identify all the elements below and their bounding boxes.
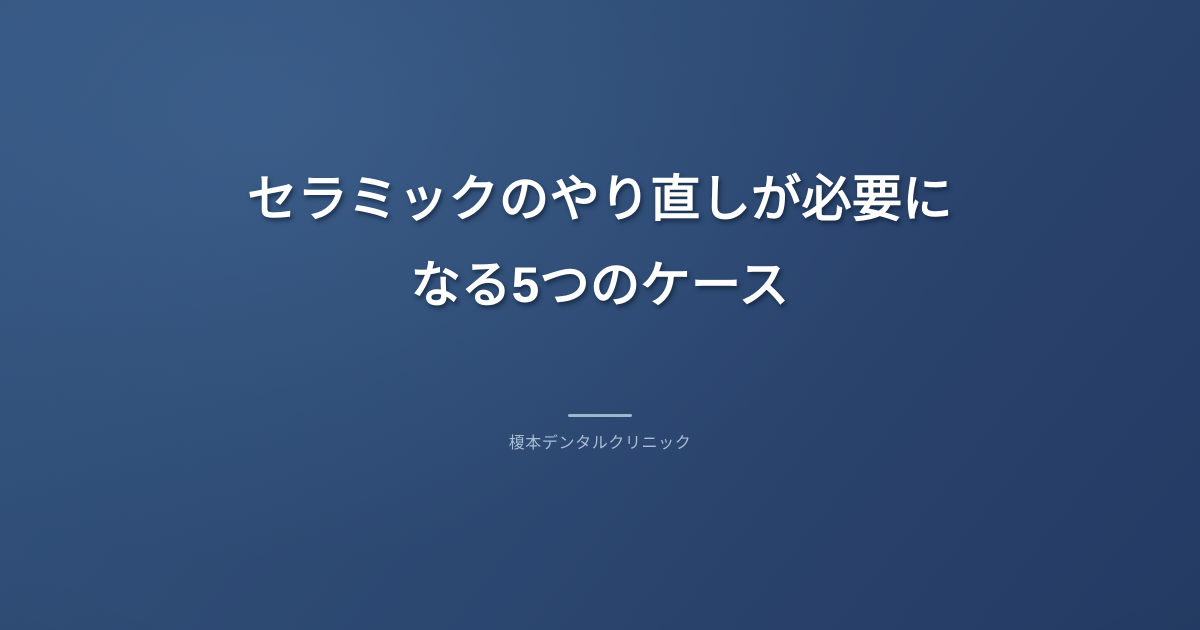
og-card: セラミックのやり直しが必要に なる5つのケース 榎本デンタルクリニック <box>0 0 1200 630</box>
title-divider <box>568 414 632 417</box>
clinic-name: 榎本デンタルクリニック <box>509 433 692 455</box>
page-title-line-2: なる5つのケース <box>247 242 953 328</box>
page-title: セラミックのやり直しが必要に なる5つのケース <box>157 156 1043 328</box>
page-title-line-1: セラミックのやり直しが必要に <box>247 156 953 242</box>
card-content: セラミックのやり直しが必要に なる5つのケース 榎本デンタルクリニック <box>0 156 1200 455</box>
